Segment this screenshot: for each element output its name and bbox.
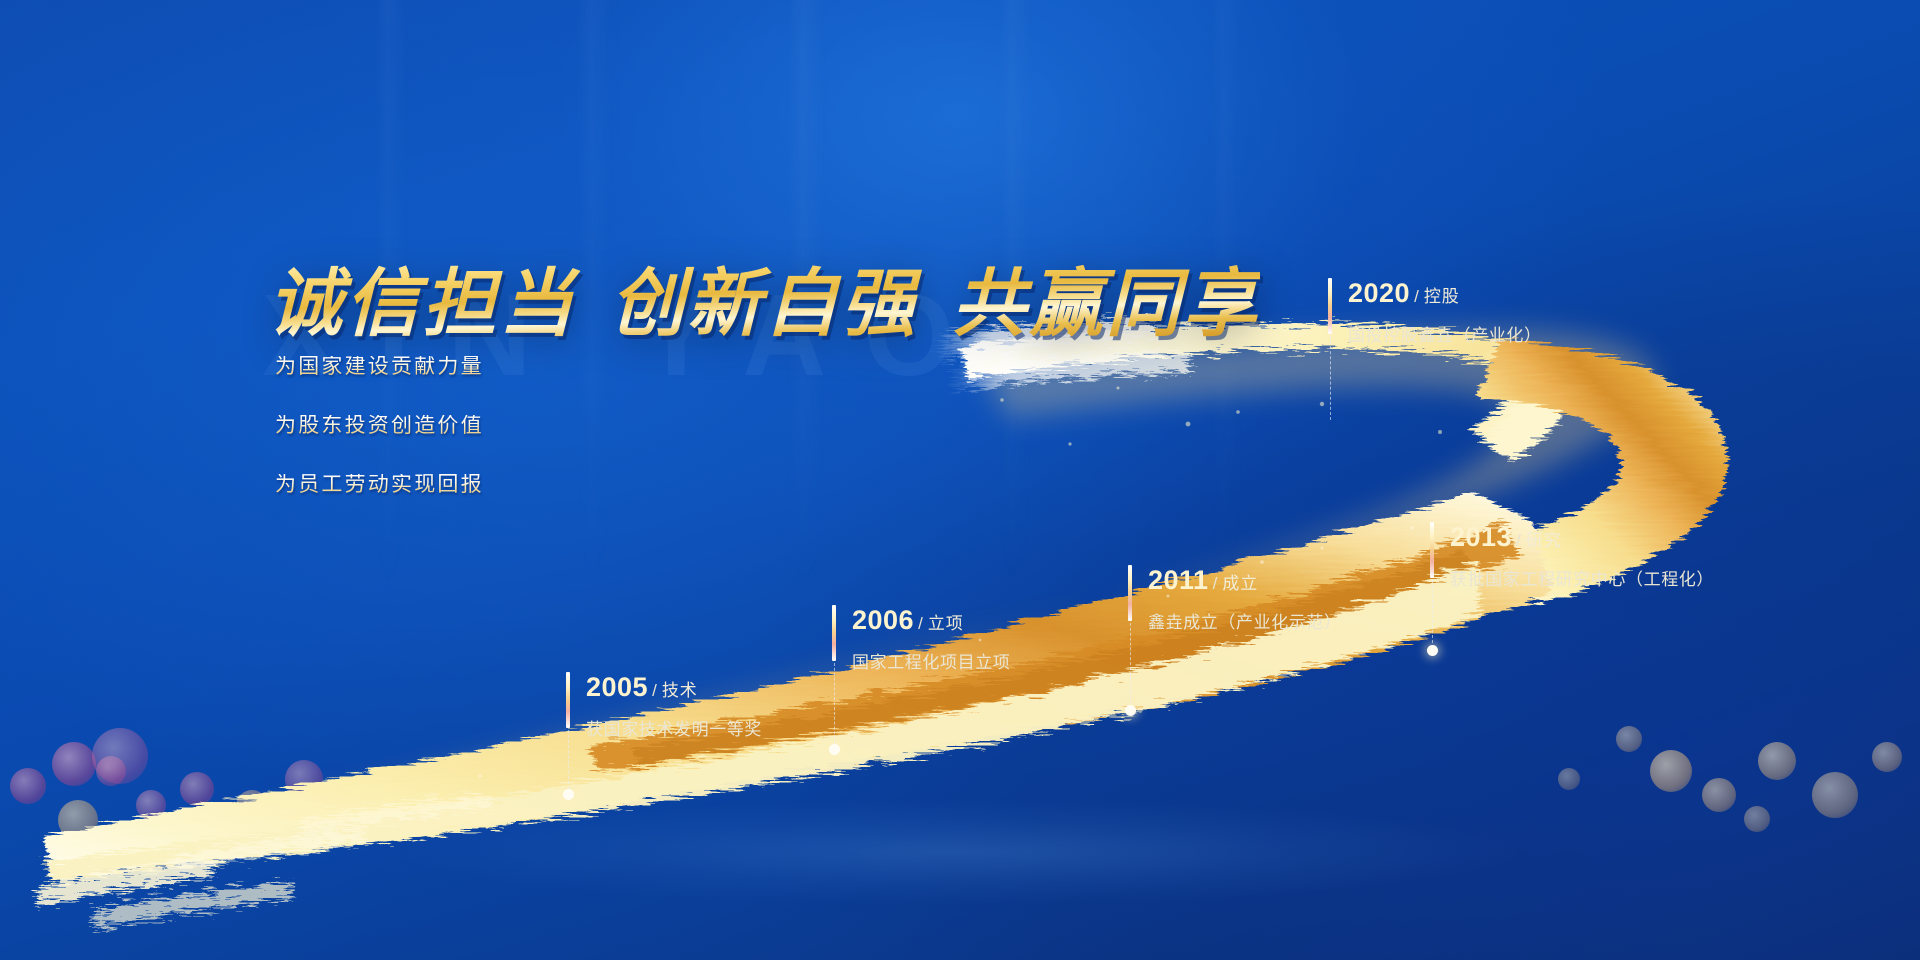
slogan-list: 为国家建设贡献力量 为股东投资创造价值 为员工劳动实现回报 [275, 356, 484, 533]
headline-part-1: 诚信担当 [268, 262, 576, 345]
milestone-headline: 2005/技术 [586, 672, 762, 707]
milestone-separator: / [1414, 287, 1419, 306]
milestone-tick-icon [1430, 522, 1434, 578]
milestone-description: 国投控股鑫垚（产业化） [1348, 321, 1542, 346]
slogan-item: 为股东投资创造价值 [275, 415, 484, 436]
milestone-leader-line-2013 [1432, 580, 1433, 648]
milestone-separator: / [1516, 531, 1521, 550]
milestone-tick-icon [832, 605, 836, 661]
milestone-tick-icon [1128, 565, 1132, 621]
milestone-leader-line-2005 [568, 730, 569, 794]
milestone-text: 2020/控股 国投控股鑫垚（产业化） [1348, 278, 1542, 346]
milestone-separator: / [918, 614, 923, 633]
milestone-text: 2011/成立 鑫垚成立（产业化示范） [1148, 565, 1342, 633]
milestone-description: 鑫垚成立（产业化示范） [1148, 608, 1342, 633]
milestone-tag: 成立 [1222, 574, 1258, 593]
milestone-description: 获国家技术发明一等奖 [586, 715, 762, 740]
milestone-headline: 2006/立项 [852, 605, 1010, 640]
background-glow-band [0, 782, 1920, 922]
milestone-node-2005 [563, 789, 574, 800]
headline-part-2: 创新自强 [610, 262, 918, 345]
milestone-year: 2011 [1148, 565, 1209, 595]
headline-part-3: 共赢同享 [952, 262, 1260, 345]
milestone-tick-icon [566, 672, 570, 728]
milestone-leader-line-2020 [1330, 336, 1331, 420]
milestone-text: 2006/立项 国家工程化项目立项 [852, 605, 1010, 673]
milestone-description: 国家工程化项目立项 [852, 648, 1010, 673]
milestone-year: 2006 [852, 605, 914, 635]
milestone-description: 获批国家工程研究中心（工程化） [1450, 565, 1714, 590]
milestone-year: 2005 [586, 672, 648, 702]
milestone-year: 2020 [1348, 278, 1410, 308]
milestone-text: 2013/研究 获批国家工程研究中心（工程化） [1450, 522, 1714, 590]
banner-canvas: XIN YAO 诚信担当创新自强共赢同享 为国家建设贡献力量 为股东投资创造价值… [0, 0, 1920, 960]
milestone-node-2006 [829, 744, 840, 755]
milestone-headline: 2020/控股 [1348, 278, 1542, 313]
milestone-node-2011 [1125, 705, 1136, 716]
milestone-headline: 2013/研究 [1450, 522, 1714, 557]
milestone-leader-line-2011 [1130, 623, 1131, 709]
milestone-separator: / [652, 681, 657, 700]
milestone-tag: 控股 [1424, 287, 1460, 306]
milestone-text: 2005/技术 获国家技术发明一等奖 [586, 672, 762, 740]
milestone-tag: 技术 [662, 681, 698, 700]
slogan-item: 为员工劳动实现回报 [275, 474, 484, 495]
milestone-tick-icon [1328, 278, 1332, 334]
milestone-node-2013 [1427, 645, 1438, 656]
milestone-tag: 立项 [928, 614, 964, 633]
milestone-year: 2013 [1450, 522, 1512, 552]
milestone-headline: 2011/成立 [1148, 565, 1342, 600]
slogan-item: 为国家建设贡献力量 [275, 356, 484, 377]
milestone-tag: 研究 [1526, 531, 1562, 550]
page-title: 诚信担当创新自强共赢同享 [268, 244, 1260, 351]
milestone-leader-line-2006 [834, 663, 835, 749]
milestone-separator: / [1213, 574, 1218, 593]
